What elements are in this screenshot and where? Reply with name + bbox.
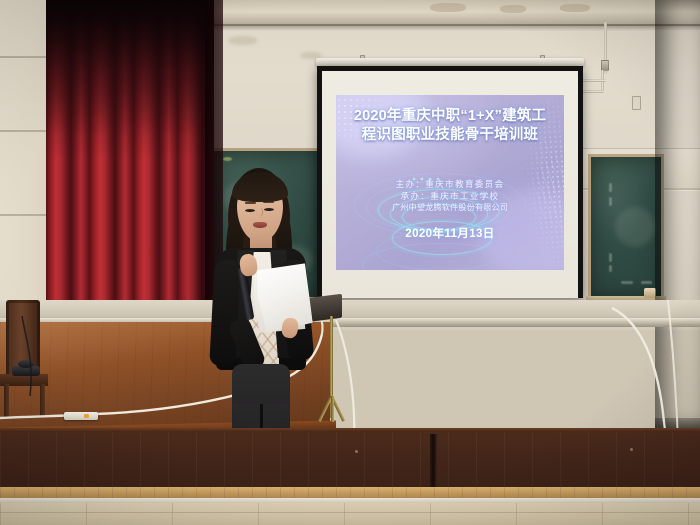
stage-panel-mark — [630, 448, 633, 451]
slide-date: 2020年11月13日 — [336, 225, 564, 241]
wall-stain — [228, 36, 258, 45]
projection-screen[interactable]: 2020年重庆中职“1+X”建筑工 程识图职业技能骨干培训班 主办：重庆市教育委… — [317, 66, 583, 298]
beam-stain — [500, 5, 526, 13]
wall-panel-left — [0, 0, 46, 330]
audience-floor-tiles — [0, 503, 700, 525]
floor-tile-grout-line — [0, 512, 700, 513]
power-strip[interactable] — [64, 412, 98, 420]
mouth — [253, 222, 267, 228]
slide-organizers: 主办：重庆市教育委员会 承办：重庆市工业学校 广州中望龙腾软件股份有限公司 — [336, 179, 564, 214]
nose — [257, 208, 263, 217]
slide-title: 2020年重庆中职“1+X”建筑工 程识图职业技能骨干培训班 — [336, 107, 564, 145]
stage-panel-mark — [355, 450, 358, 453]
beam-stain — [560, 4, 590, 12]
music-stand-leg — [331, 396, 334, 422]
presentation-slide: 2020年重庆中职“1+X”建筑工 程识图职业技能骨干培训班 主办：重庆市教育委… — [336, 95, 564, 270]
stage-front-panel — [0, 432, 700, 492]
auditorium-photo: 2020年重庆中职“1+X”建筑工 程识图职业技能骨干培训班 主办：重庆市教育委… — [0, 0, 700, 525]
left-arm — [209, 259, 241, 366]
chalkboard-right — [588, 154, 664, 300]
beam-stain — [430, 3, 466, 12]
wall-plate — [632, 96, 641, 110]
projection-screen-surface: 2020年重庆中职“1+X”建筑工 程识图职业技能骨干培训班 主办：重庆市教育委… — [322, 71, 578, 298]
stage-panel-seam — [430, 434, 437, 490]
